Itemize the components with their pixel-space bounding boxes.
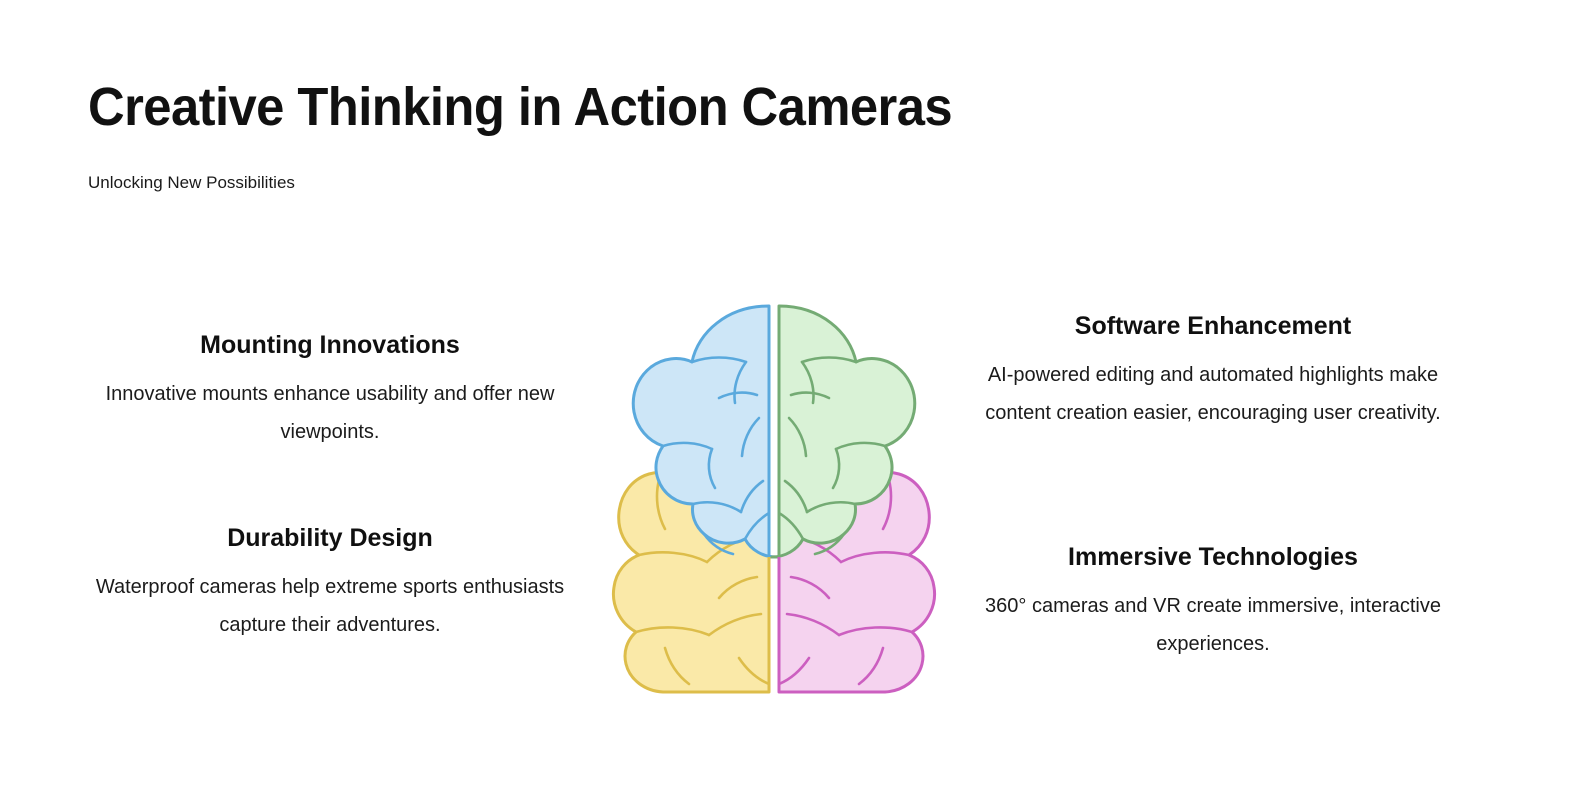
feature-title: Mounting Innovations bbox=[95, 330, 565, 361]
brain-icon bbox=[599, 298, 949, 698]
feature-software-enhancement: Software Enhancement AI-powered editing … bbox=[978, 311, 1448, 432]
feature-title: Immersive Technologies bbox=[978, 542, 1448, 573]
feature-durability-design: Durability Design Waterproof cameras hel… bbox=[95, 523, 565, 644]
feature-title: Durability Design bbox=[95, 523, 565, 554]
page-subtitle: Unlocking New Possibilities bbox=[88, 172, 1288, 194]
slide-header: Creative Thinking in Action Cameras Unlo… bbox=[88, 78, 1288, 194]
brain-illustration bbox=[599, 298, 949, 698]
feature-mounting-innovations: Mounting Innovations Innovative mounts e… bbox=[95, 330, 565, 451]
feature-description: Waterproof cameras help extreme sports e… bbox=[95, 569, 565, 644]
page-title: Creative Thinking in Action Cameras bbox=[88, 78, 1216, 136]
feature-title: Software Enhancement bbox=[978, 311, 1448, 342]
feature-description: 360° cameras and VR create immersive, in… bbox=[978, 588, 1448, 663]
slide-canvas: Creative Thinking in Action Cameras Unlo… bbox=[0, 0, 1578, 810]
feature-description: Innovative mounts enhance usability and … bbox=[95, 376, 565, 451]
brain-right-hemisphere bbox=[772, 306, 935, 692]
brain-left-hemisphere bbox=[613, 306, 776, 692]
feature-immersive-technologies: Immersive Technologies 360° cameras and … bbox=[978, 542, 1448, 663]
feature-description: AI-powered editing and automated highlig… bbox=[978, 357, 1448, 432]
